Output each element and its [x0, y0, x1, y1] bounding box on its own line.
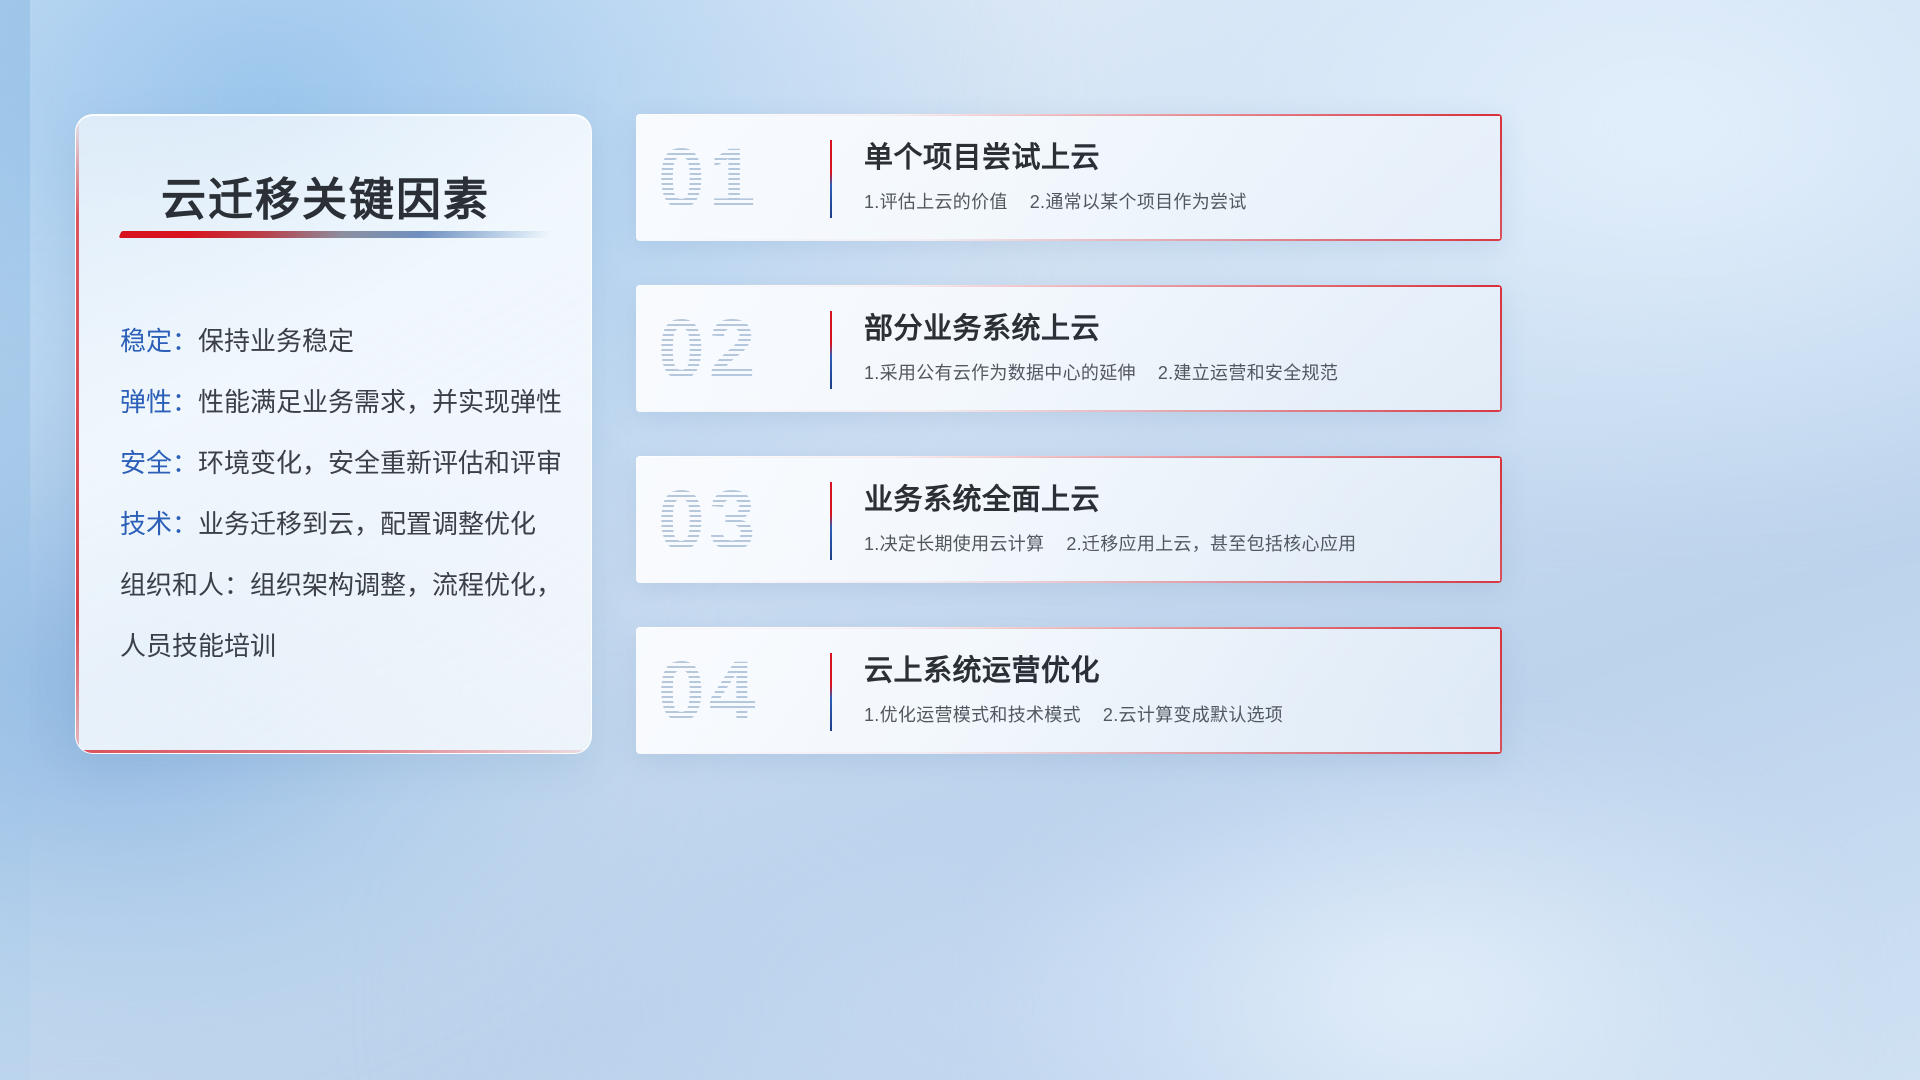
card-title: 云上系统运营优化 [864, 649, 1468, 693]
card-title: 单个项目尝试上云 [864, 136, 1468, 180]
key-factor-text: 环境变化，安全重新评估和评审 [198, 448, 562, 478]
card-subtitle-item: 1.采用公有云作为数据中心的延伸 [864, 363, 1136, 383]
card-title: 业务系统全面上云 [864, 478, 1468, 522]
title-underline-gradient [119, 231, 552, 238]
card-body: 部分业务系统上云1.采用公有云作为数据中心的延伸2.建立运营和安全规范 [864, 307, 1468, 387]
stage-number: 03 [658, 470, 810, 570]
card-subtitle-item: 2.迁移应用上云，甚至包括核心应用 [1066, 534, 1356, 554]
key-factor-label: 弹性： [120, 387, 198, 417]
card-subtitle: 1.优化运营模式和技术模式2.云计算变成默认选项 [864, 701, 1468, 729]
key-factor-text: 业务迁移到云，配置调整优化 [198, 509, 536, 539]
key-factor-item: 技术：业务迁移到云，配置调整优化 [120, 494, 565, 555]
card-top-accent-line [636, 114, 1502, 116]
slide-stage: 云迁移关键因素 稳定：保持业务稳定弹性：性能满足业务需求，并实现弹性安全：环境变… [0, 0, 1920, 1080]
stage-card[interactable]: 02部分业务系统上云1.采用公有云作为数据中心的延伸2.建立运营和安全规范 [636, 285, 1502, 412]
key-factor-label: 安全： [120, 448, 198, 478]
key-factor-text: 性能满足业务需求，并实现弹性 [198, 387, 562, 417]
card-bottom-accent-line [636, 752, 1502, 754]
key-factor-label: 稳定： [120, 326, 198, 356]
key-factor-item: 安全：环境变化，安全重新评估和评审 [120, 433, 565, 494]
key-factor-text: 保持业务稳定 [198, 326, 354, 356]
card-body: 业务系统全面上云1.决定长期使用云计算2.迁移应用上云，甚至包括核心应用 [864, 478, 1468, 558]
key-factor-label: 技术： [120, 509, 198, 539]
stage-number: 01 [658, 128, 810, 228]
card-subtitle-item: 1.决定长期使用云计算 [864, 534, 1044, 554]
card-body: 云上系统运营优化1.优化运营模式和技术模式2.云计算变成默认选项 [864, 649, 1468, 729]
card-top-accent-line [636, 456, 1502, 458]
card-top-accent-line [636, 285, 1502, 287]
card-divider-line [830, 653, 832, 731]
key-factor-text: 人员技能培训 [120, 631, 276, 661]
card-title: 部分业务系统上云 [864, 307, 1468, 351]
card-subtitle: 1.决定长期使用云计算2.迁移应用上云，甚至包括核心应用 [864, 530, 1468, 558]
key-factor-item: 弹性：性能满足业务需求，并实现弹性 [120, 372, 565, 433]
stage-number: 04 [658, 641, 810, 741]
stage-card[interactable]: 04云上系统运营优化1.优化运营模式和技术模式2.云计算变成默认选项 [636, 627, 1502, 754]
card-bottom-accent-line [636, 410, 1502, 412]
card-subtitle-item: 1.优化运营模式和技术模式 [864, 705, 1081, 725]
key-factor-text: 组织架构调整，流程优化， [250, 570, 562, 600]
card-bottom-accent-line [636, 581, 1502, 583]
card-divider-line [830, 482, 832, 560]
card-subtitle: 1.采用公有云作为数据中心的延伸2.建立运营和安全规范 [864, 359, 1468, 387]
key-factors-list: 稳定：保持业务稳定弹性：性能满足业务需求，并实现弹性安全：环境变化，安全重新评估… [120, 311, 565, 677]
key-factor-item: 人员技能培训 [120, 616, 565, 677]
card-divider-line [830, 311, 832, 389]
card-body: 单个项目尝试上云1.评估上云的价值2.通常以某个项目作为尝试 [864, 136, 1468, 216]
card-top-accent-line [636, 627, 1502, 629]
key-factors-panel: 云迁移关键因素 稳定：保持业务稳定弹性：性能满足业务需求，并实现弹性安全：环境变… [75, 114, 592, 754]
card-subtitle: 1.评估上云的价值2.通常以某个项目作为尝试 [864, 188, 1468, 216]
card-subtitle-item: 2.云计算变成默认选项 [1103, 705, 1283, 725]
card-subtitle-item: 1.评估上云的价值 [864, 192, 1008, 212]
card-divider-line [830, 140, 832, 218]
stage-card[interactable]: 01单个项目尝试上云1.评估上云的价值2.通常以某个项目作为尝试 [636, 114, 1502, 241]
card-subtitle-item: 2.建立运营和安全规范 [1158, 363, 1338, 383]
card-bottom-accent-line [636, 239, 1502, 241]
card-subtitle-item: 2.通常以某个项目作为尝试 [1030, 192, 1247, 212]
stage-number: 02 [658, 299, 810, 399]
key-factor-label: 组织和人： [120, 570, 250, 600]
key-factor-item: 组织和人：组织架构调整，流程优化， [120, 555, 565, 616]
migration-stages-list: 01单个项目尝试上云1.评估上云的价值2.通常以某个项目作为尝试02部分业务系统… [636, 114, 1502, 798]
key-factor-item: 稳定：保持业务稳定 [120, 311, 565, 372]
stage-card[interactable]: 03业务系统全面上云1.决定长期使用云计算2.迁移应用上云，甚至包括核心应用 [636, 456, 1502, 583]
panel-title: 云迁移关键因素 [161, 163, 490, 228]
